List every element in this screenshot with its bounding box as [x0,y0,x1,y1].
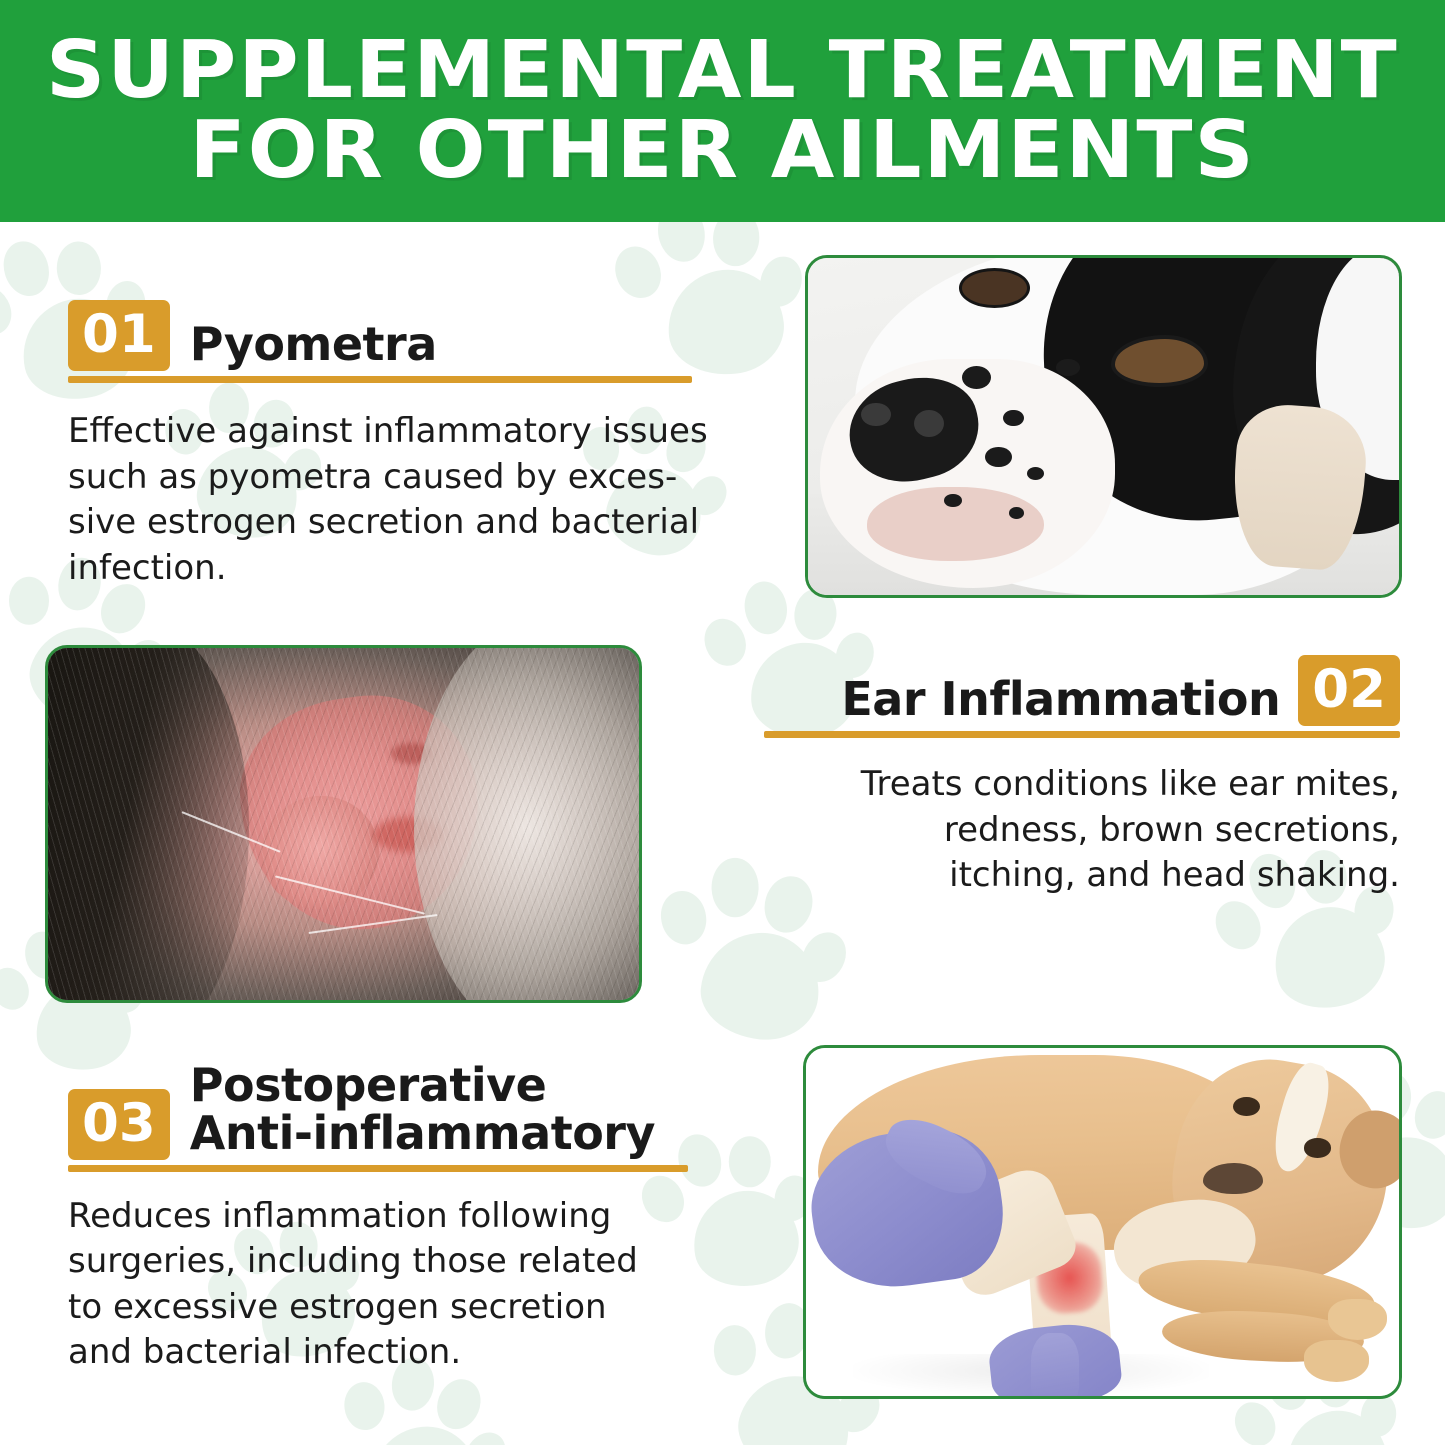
photo-pyometra [805,255,1402,598]
header-title-line-2: FOR OTHER AILMENTS [189,113,1255,189]
section-number-badge-03: 03 [68,1089,170,1160]
photo-postoperative [803,1045,1402,1399]
photo-ear-scene [48,648,639,1000]
section-body-01: Effective against inflammatory issues su… [68,409,708,591]
section-heading-row: Ear Inflammation 02 [764,655,1400,726]
photo-pyometra-scene [808,258,1399,595]
section-number-badge-02: 02 [1298,655,1400,726]
section-rule-01 [68,376,692,383]
section-rule-02 [764,731,1400,738]
section-body-02: Treats conditions like ear mites, rednes… [764,762,1400,899]
header-banner: SUPPLEMENTAL TREATMENT FOR OTHER AILMENT… [0,0,1445,222]
section-ear-inflammation: Ear Inflammation 02 Treats conditions li… [764,655,1400,899]
section-rule-03 [68,1165,688,1172]
section-title-01: Pyometra [190,321,437,371]
section-body-03: Reduces inflammation following surgeries… [68,1194,702,1376]
section-title-02: Ear Inflammation [841,676,1280,726]
photo-ear-inflammation [45,645,642,1003]
section-heading-row: 03 Postoperative Anti-inflammatory [68,1062,702,1160]
section-heading-row: 01 Pyometra [68,300,708,371]
section-postoperative-anti-inflammatory: 03 Postoperative Anti-inflammatory Reduc… [68,1062,702,1376]
photo-postoperative-scene [806,1048,1399,1396]
header-title-line-1: SUPPLEMENTAL TREATMENT [46,33,1399,109]
section-pyometra: 01 Pyometra Effective against inflammato… [68,300,708,591]
poster-root: SUPPLEMENTAL TREATMENT FOR OTHER AILMENT… [0,0,1445,1445]
section-title-03: Postoperative Anti-inflammatory [190,1062,655,1160]
section-number-badge-01: 01 [68,300,170,371]
